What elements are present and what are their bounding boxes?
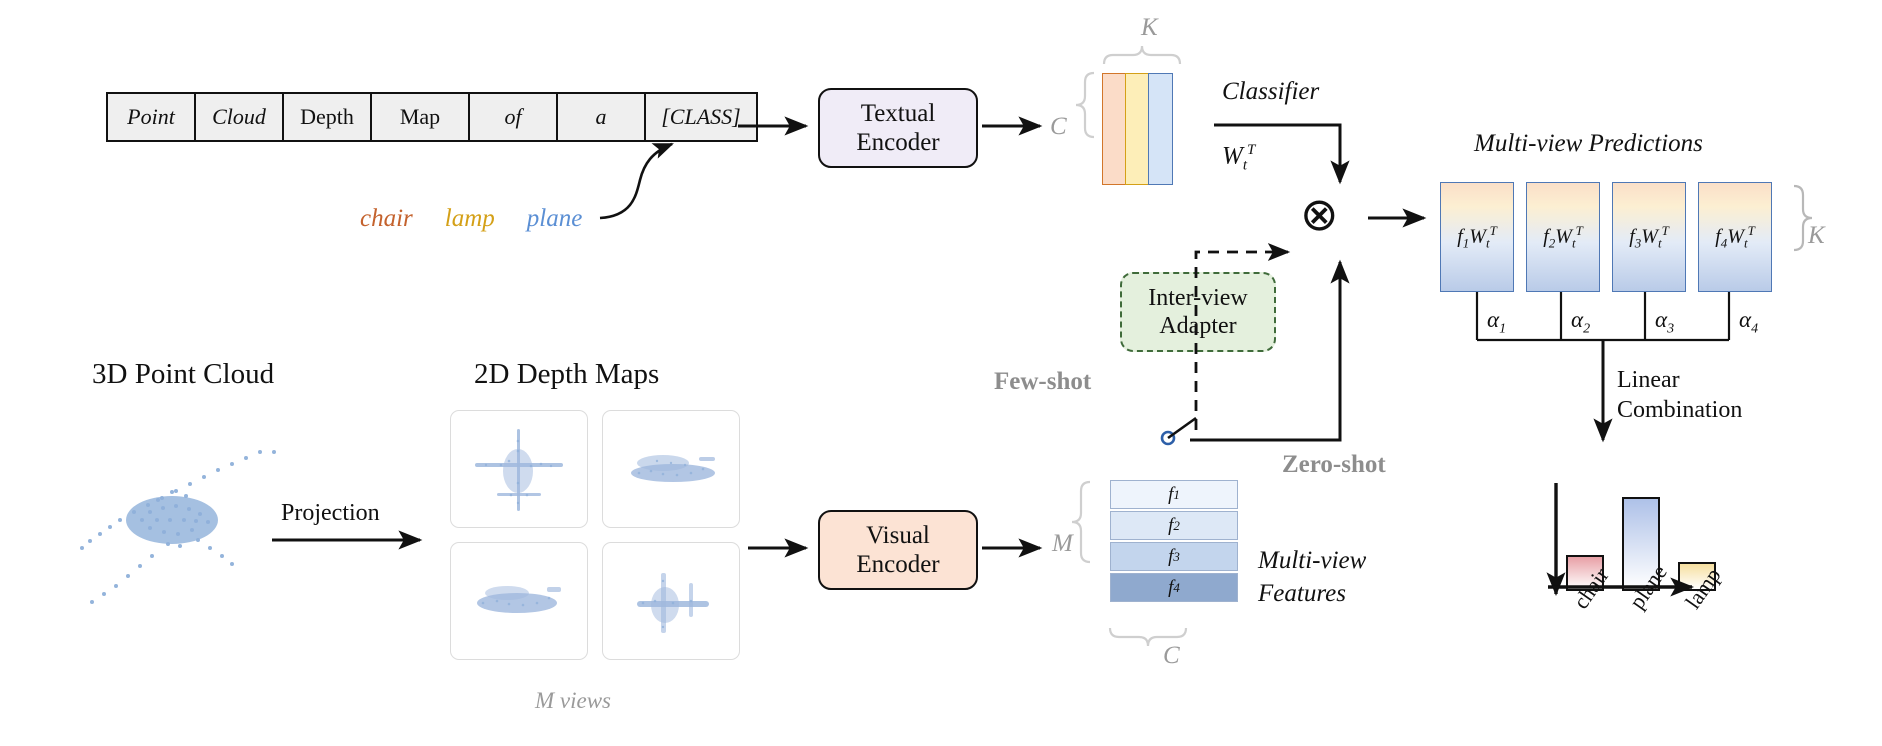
classifier-column-1 <box>1125 73 1150 185</box>
adapter-line1: Inter-view <box>1148 284 1247 312</box>
feature-dim-c: C <box>1163 642 1180 670</box>
multiply-operator-icon: ⊗ <box>1300 192 1339 238</box>
feature-row-3: f3 <box>1110 542 1238 571</box>
multi-view-feature-stack: f1f2f3f4 <box>1110 480 1238 604</box>
predictions-title: Multi-view Predictions <box>1474 130 1703 158</box>
views-caption: M views <box>535 688 611 714</box>
linear-combination-line2: Combination <box>1617 395 1742 425</box>
visual-encoder-line1: Visual <box>866 521 930 551</box>
depth-map-thumbnail[interactable] <box>450 410 588 528</box>
prompt-token-0[interactable]: Point <box>108 94 196 140</box>
visual-encoder-box[interactable]: Visual Encoder <box>818 510 978 590</box>
prompt-token-2[interactable]: Depth <box>284 94 372 140</box>
class-word-list: chairlampplane <box>360 205 582 233</box>
prompt-token-1[interactable]: Cloud <box>196 94 284 140</box>
feature-row-4: f4 <box>1110 573 1238 602</box>
prompt-token-4[interactable]: of <box>470 94 558 140</box>
predictions-dim-k: K <box>1808 222 1825 250</box>
inter-view-adapter-box[interactable]: Inter-view Adapter <box>1120 272 1276 352</box>
prediction-box-4: f4WtT <box>1698 182 1772 292</box>
depth-map-grid <box>450 410 740 660</box>
linear-combination-label: Linear Combination <box>1617 365 1742 425</box>
depth-map-thumbnail[interactable] <box>602 542 740 660</box>
projection-label: Projection <box>281 500 380 527</box>
classifier-title: Classifier <box>1222 78 1319 106</box>
classifier-dim-k: K <box>1141 14 1158 42</box>
zero-shot-label: Zero-shot <box>1282 451 1386 479</box>
class-word-plane[interactable]: plane <box>527 205 583 233</box>
multi-view-features-caption: Multi-view Features <box>1258 545 1366 610</box>
weight-sup: T <box>1247 142 1255 158</box>
classifier-column-0 <box>1102 73 1127 185</box>
prediction-box-1: f1WtT <box>1440 182 1514 292</box>
alpha-label-3: α3 <box>1655 307 1674 338</box>
classifier-weight-label: WtT <box>1222 142 1255 174</box>
textual-encoder-line1: Textual <box>861 99 936 129</box>
adapter-line2: Adapter <box>1159 312 1236 340</box>
prediction-bar-chart: chairplanelamp <box>1548 470 1778 660</box>
prompt-token-6[interactable]: [CLASS] <box>646 94 756 140</box>
multi-view-prediction-boxes: f1WtTf2WtTf3WtTf4WtT <box>1440 182 1772 292</box>
depth-map-thumbnail[interactable] <box>450 542 588 660</box>
alpha-label-2: α2 <box>1571 307 1590 338</box>
weight-symbol: W <box>1222 142 1243 169</box>
classifier-dim-c: C <box>1050 113 1067 141</box>
feature-row-2: f2 <box>1110 511 1238 540</box>
prompt-token-table: PointCloudDepthMapofa[CLASS] <box>106 92 758 142</box>
alpha-label-1: α1 <box>1487 307 1506 338</box>
point-cloud-title: 3D Point Cloud <box>92 358 274 391</box>
textual-encoder-box[interactable]: Textual Encoder <box>818 88 978 168</box>
depth-maps-title: 2D Depth Maps <box>474 358 659 391</box>
classifier-column-2 <box>1148 73 1173 185</box>
classifier-matrix <box>1102 73 1173 183</box>
class-word-chair[interactable]: chair <box>360 205 413 233</box>
depth-map-thumbnail[interactable] <box>602 410 740 528</box>
prompt-token-5[interactable]: a <box>558 94 646 140</box>
class-word-lamp[interactable]: lamp <box>445 205 495 233</box>
prompt-token-3[interactable]: Map <box>372 94 470 140</box>
feature-dim-m: M <box>1052 530 1073 558</box>
prediction-box-2: f2WtT <box>1526 182 1600 292</box>
linear-combination-line1: Linear <box>1617 365 1742 395</box>
feature-row-1: f1 <box>1110 480 1238 509</box>
features-caption-line1: Multi-view <box>1258 545 1366 578</box>
textual-encoder-line2: Encoder <box>856 128 939 158</box>
few-shot-label: Few-shot <box>994 368 1091 396</box>
alpha-label-4: α4 <box>1739 307 1758 338</box>
prediction-box-3: f3WtT <box>1612 182 1686 292</box>
visual-encoder-line2: Encoder <box>856 550 939 580</box>
weight-sub: t <box>1243 157 1247 173</box>
features-caption-line2: Features <box>1258 578 1366 611</box>
